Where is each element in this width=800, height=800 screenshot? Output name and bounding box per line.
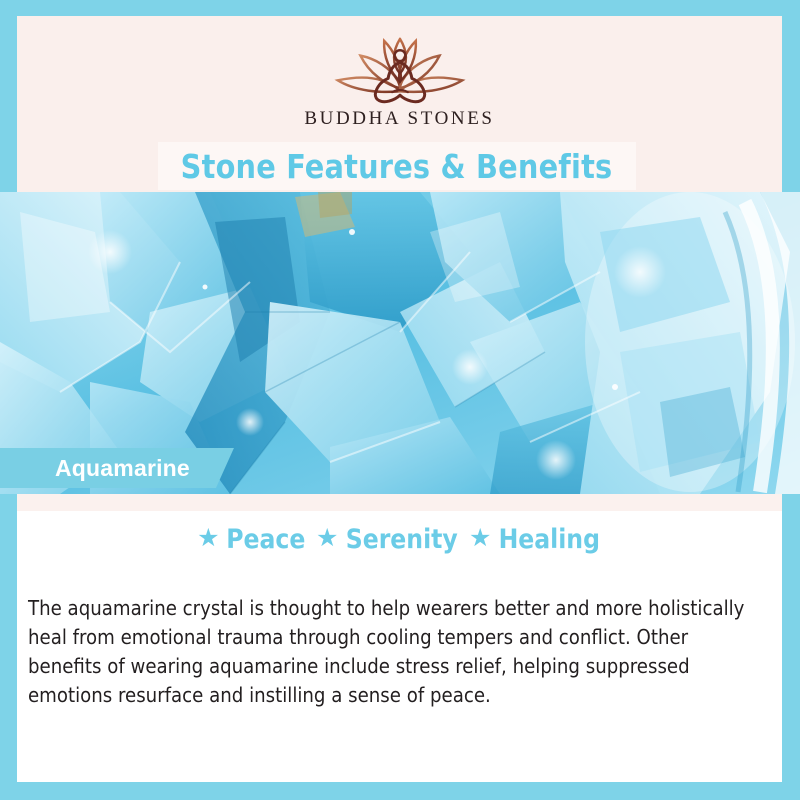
description-paragraph: The aquamarine crystal is thought to hel…: [28, 594, 757, 710]
content-section: ★ Peace ★ Serenity ★ Healing The aquamar…: [17, 494, 782, 782]
star-icon: ★: [469, 526, 491, 551]
title-panel: Stone Features & Benefits: [158, 142, 636, 190]
keyword-peace: ★ Peace: [197, 524, 307, 555]
keyword-serenity: ★ Serenity: [316, 524, 460, 555]
title-band: Stone Features & Benefits: [17, 142, 782, 192]
keyword-label: Healing: [499, 524, 600, 555]
stone-name-banner: Aquamarine: [0, 448, 234, 488]
keyword-label: Serenity: [346, 524, 458, 555]
lotus-meditation-icon: [325, 26, 475, 110]
keyword-list: ★ Peace ★ Serenity ★ Healing: [17, 524, 782, 555]
keyword-healing: ★ Healing: [469, 524, 602, 555]
brand-name: BUDDHA STONES: [304, 108, 494, 130]
aquamarine-crystal-photo: Aquamarine: [0, 192, 800, 494]
page-title: Stone Features & Benefits: [181, 147, 613, 186]
star-icon: ★: [316, 526, 338, 551]
brand-header: BUDDHA STONES: [17, 16, 782, 144]
star-icon: ★: [197, 526, 219, 551]
content-divider: [17, 494, 782, 511]
card-surface: BUDDHA STONES Stone Features & Benefits: [17, 16, 782, 782]
infographic-card: BUDDHA STONES Stone Features & Benefits: [0, 0, 800, 800]
accent-bar-bottom: [0, 782, 800, 800]
keyword-label: Peace: [227, 524, 306, 555]
accent-bar-top: [0, 0, 800, 16]
stone-name-label: Aquamarine: [55, 455, 190, 482]
